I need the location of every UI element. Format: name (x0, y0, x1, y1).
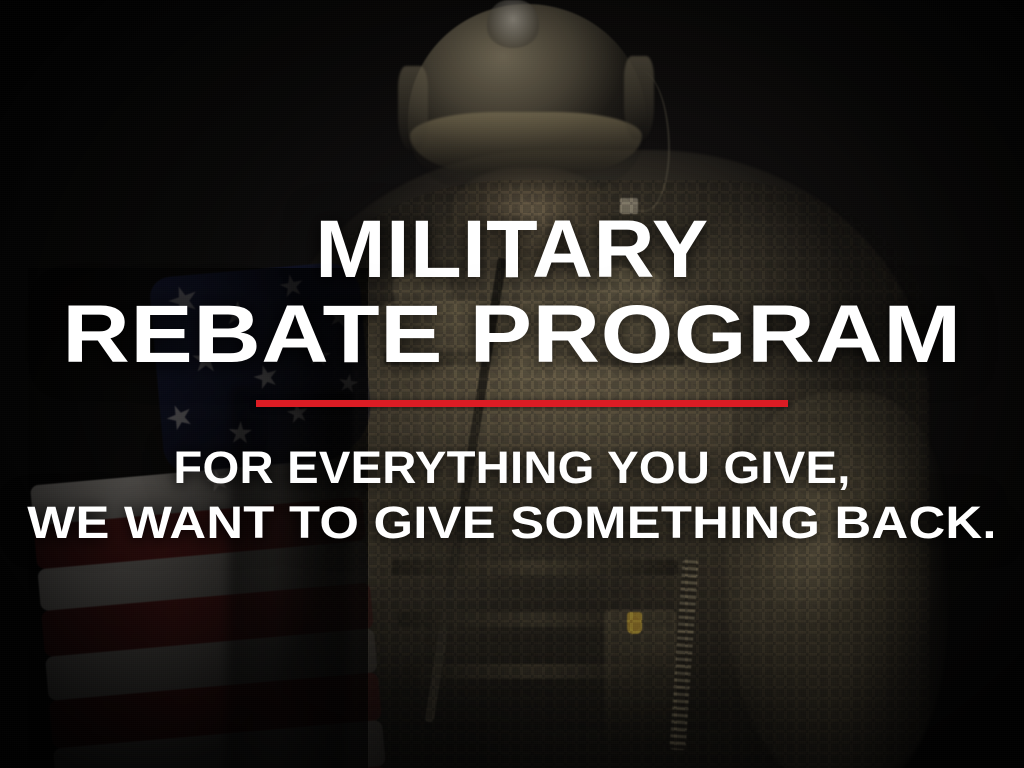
subtitle-line-2: WE WANT TO GIVE SOMETHING BACK. (0, 500, 1024, 545)
red-rule-divider (256, 400, 788, 407)
text-overlay: MILITARY REBATE PROGRAM FOR EVERYTHING Y… (0, 0, 1024, 768)
subtitle-line-1: FOR EVERYTHING YOU GIVE, (0, 445, 1024, 490)
military-rebate-banner: MILITARY REBATE PROGRAM FOR EVERYTHING Y… (0, 0, 1024, 768)
headline-line-1: MILITARY (0, 211, 1024, 290)
headline-line-2: REBATE PROGRAM (0, 296, 1024, 375)
